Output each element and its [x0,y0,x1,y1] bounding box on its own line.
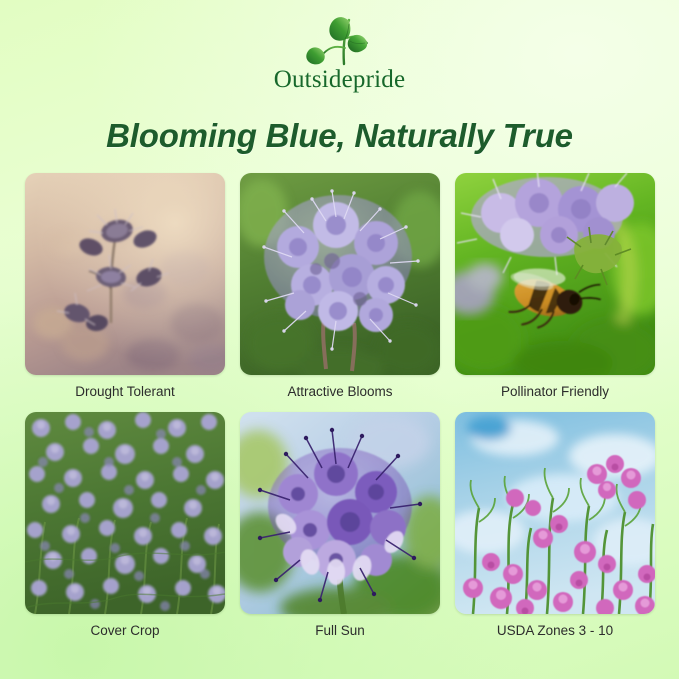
brand-header: Outsidepride [0,8,679,92]
feature-image-usda-zones [455,412,655,614]
feature-card-cover-crop: Cover Crop [25,412,225,614]
feature-card-usda-zones: USDA Zones 3 - 10 [455,412,655,614]
feature-caption: Cover Crop [25,624,225,638]
feature-card-pollinator-friendly: Pollinator Friendly [455,173,655,375]
page-title: Blooming Blue, Naturally True [0,117,679,155]
leaf-sprig-icon [0,8,679,66]
feature-caption: Full Sun [240,624,440,638]
feature-caption: USDA Zones 3 - 10 [455,624,655,638]
feature-caption: Drought Tolerant [25,385,225,399]
feature-card-full-sun: Full Sun [240,412,440,614]
brand-name: Outsidepride [0,67,679,92]
feature-grid: Drought Tolerant [25,173,655,614]
feature-caption: Attractive Blooms [240,385,440,399]
feature-card-drought-tolerant: Drought Tolerant [25,173,225,375]
feature-image-pollinator-friendly [455,173,655,375]
promo-infographic: Outsidepride Blooming Blue, Naturally Tr… [0,0,679,679]
feature-image-full-sun [240,412,440,614]
feature-card-attractive-blooms: Attractive Blooms [240,173,440,375]
feature-image-cover-crop [25,412,225,614]
feature-image-attractive-blooms [240,173,440,375]
feature-caption: Pollinator Friendly [455,385,655,399]
feature-image-drought-tolerant [25,173,225,375]
